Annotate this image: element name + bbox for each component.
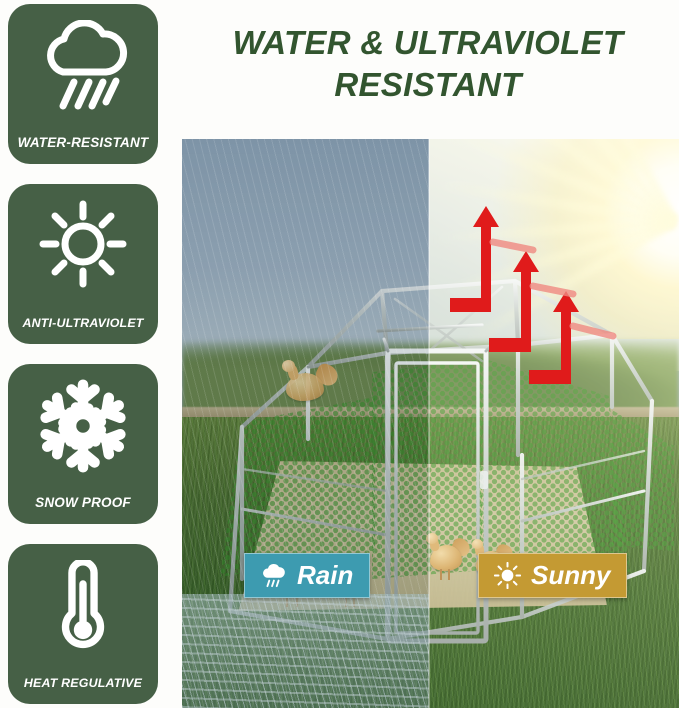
feature-label: HEAT REGULATIVE: [8, 676, 158, 690]
feature-label: WATER-RESISTANT: [8, 135, 158, 150]
page-title-line-1: WATER & ULTRAVIOLET: [182, 22, 674, 64]
sun-icon: [33, 198, 133, 294]
snowflake-icon: [33, 378, 133, 474]
badge-label: Sunny: [531, 562, 610, 588]
badge-rain[interactable]: Rain: [244, 553, 370, 598]
uv-deflection-arrows: [437, 194, 617, 384]
page-title-line-2: RESISTANT: [182, 64, 674, 106]
product-photo: Rain Sunny: [182, 139, 679, 708]
sun-icon: [492, 561, 522, 589]
feature-card-heat-regulative[interactable]: HEAT REGULATIVE: [8, 544, 158, 704]
feature-label: SNOW PROOF: [8, 495, 158, 510]
feature-label: ANTI-ULTRAVIOLET: [8, 316, 158, 330]
weather-split-divider: [428, 139, 430, 708]
rain-cloud-icon: [33, 18, 133, 114]
rain-cloud-icon: [258, 561, 288, 589]
page-title: WATER & ULTRAVIOLET RESISTANT: [182, 22, 674, 106]
feature-badge-rail: WATER-RESISTANT ANTI-ULTRAVIOLET: [8, 4, 166, 704]
badge-sunny[interactable]: Sunny: [478, 553, 627, 598]
feature-card-snow-proof[interactable]: SNOW PROOF: [8, 364, 158, 524]
rain-streaks: [182, 139, 429, 708]
badge-label: Rain: [297, 562, 353, 588]
feature-card-water-resistant[interactable]: WATER-RESISTANT: [8, 4, 158, 164]
feature-card-anti-ultraviolet[interactable]: ANTI-ULTRAVIOLET: [8, 184, 158, 344]
thermometer-icon: [33, 558, 133, 654]
